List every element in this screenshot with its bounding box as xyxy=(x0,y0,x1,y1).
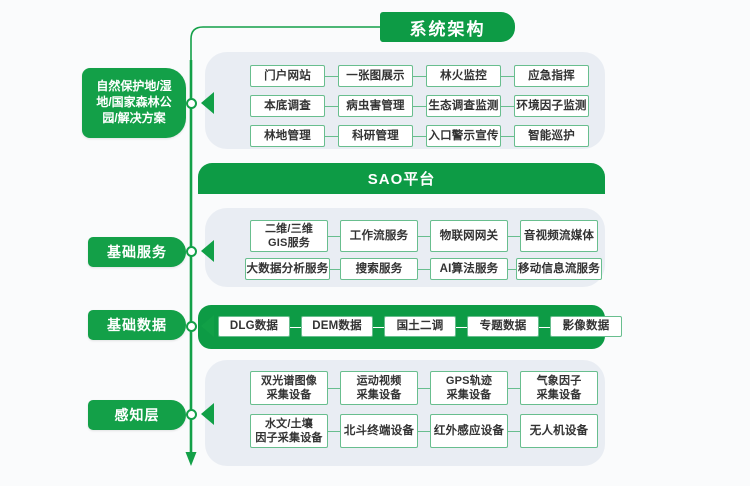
app-box-env-monitor[interactable]: 环境因子监测 xyxy=(514,95,589,117)
app-box-emergency[interactable]: 应急指挥 xyxy=(514,65,589,87)
layer-arrow-basic-data xyxy=(201,315,214,337)
app-box-onemap[interactable]: 一张图展示 xyxy=(338,65,413,87)
app-box-eco-survey[interactable]: 生态调查监测 xyxy=(426,95,501,117)
layer-label-applications-text: 自然保护地/湿 地/国家森林公 园/解决方案 xyxy=(96,79,171,126)
connector-app-r3-1 xyxy=(325,136,338,137)
service-box-ai[interactable]: AI算法服务 xyxy=(430,258,508,280)
app-box-baseline-survey[interactable]: 本底调查 xyxy=(250,95,325,117)
spine-node-basic-data xyxy=(186,321,197,332)
sensor-gps-line-1: GPS轨迹 xyxy=(446,375,492,387)
layer-label-line-3: 园/解决方案 xyxy=(102,111,165,125)
connector-data-3 xyxy=(456,327,467,328)
layer-label-line-1: 自然保护地/湿 xyxy=(96,79,171,93)
connector-svc-r1-3 xyxy=(508,236,520,237)
spine-node-perception xyxy=(186,409,197,420)
connector-app-r3-2 xyxy=(413,136,426,137)
connector-data-2 xyxy=(373,327,384,328)
service-gis-line-1: 二维/三维 xyxy=(265,223,313,235)
sensor-box-motion-video-text: 运动视频 采集设备 xyxy=(357,374,402,402)
platform-bar-sao[interactable]: SAO平台 xyxy=(198,163,605,194)
data-box-dlg[interactable]: DLG数据 xyxy=(218,316,290,337)
sensor-video-line-1: 运动视频 xyxy=(357,375,402,387)
connector-svc-r2-2 xyxy=(418,269,430,270)
app-box-entrance-warning[interactable]: 入口警示宣传 xyxy=(426,125,501,147)
sensor-dual-line-1: 双光谱图像 xyxy=(261,375,317,387)
connector-app-r1-2 xyxy=(413,76,426,77)
system-architecture-diagram: 系统架构 自然保护地/湿 地/国家森林公 园/解决方案 门户网站 一张图展示 林… xyxy=(0,0,750,486)
data-box-thematic[interactable]: 专题数据 xyxy=(467,316,539,337)
connector-svc-r1-2 xyxy=(418,236,430,237)
service-box-gis-text: 二维/三维 GIS服务 xyxy=(265,222,313,250)
layer-arrow-perception xyxy=(201,403,214,425)
sensor-box-motion-video[interactable]: 运动视频 采集设备 xyxy=(340,371,418,405)
service-box-av-streaming[interactable]: 音视频流媒体 xyxy=(520,220,598,252)
sensor-weather-line-1: 气象因子 xyxy=(537,375,582,387)
sensor-box-hydro-soil[interactable]: 水文/土壤 因子采集设备 xyxy=(250,414,328,448)
layer-label-basic-services[interactable]: 基础服务 xyxy=(88,237,186,267)
layer-arrow-basic-services xyxy=(201,240,214,262)
app-box-smart-patrol[interactable]: 智能巡护 xyxy=(514,125,589,147)
app-box-portal[interactable]: 门户网站 xyxy=(250,65,325,87)
service-box-gis[interactable]: 二维/三维 GIS服务 xyxy=(250,220,328,252)
sensor-box-gps-track[interactable]: GPS轨迹 采集设备 xyxy=(430,371,508,405)
app-box-research-mgmt[interactable]: 科研管理 xyxy=(338,125,413,147)
spine-node-basic-services xyxy=(186,246,197,257)
app-box-fire-monitor[interactable]: 林火监控 xyxy=(426,65,501,87)
layer-label-basic-data[interactable]: 基础数据 xyxy=(88,310,186,340)
connector-sense-r1-2 xyxy=(418,388,430,389)
service-box-iot-gateway[interactable]: 物联网网关 xyxy=(430,220,508,252)
sensor-box-infrared[interactable]: 红外感应设备 xyxy=(430,414,508,448)
data-box-imagery[interactable]: 影像数据 xyxy=(550,316,622,337)
sensor-box-hydro-soil-text: 水文/土壤 因子采集设备 xyxy=(255,417,322,445)
data-box-land-survey[interactable]: 国土二调 xyxy=(384,316,456,337)
sensor-weather-line-2: 采集设备 xyxy=(537,389,582,401)
app-box-pest-mgmt[interactable]: 病虫害管理 xyxy=(338,95,413,117)
connector-svc-r2-1 xyxy=(330,269,340,270)
connector-app-r3-3 xyxy=(501,136,514,137)
sensor-box-dual-spectrum[interactable]: 双光谱图像 采集设备 xyxy=(250,371,328,405)
sensor-box-weather-text: 气象因子 采集设备 xyxy=(537,374,582,402)
diagram-title: 系统架构 xyxy=(380,12,515,42)
service-box-bigdata[interactable]: 大数据分析服务 xyxy=(245,258,330,280)
data-box-dem[interactable]: DEM数据 xyxy=(301,316,373,337)
layer-arrow-applications xyxy=(201,92,214,114)
sensor-video-line-2: 采集设备 xyxy=(357,389,402,401)
sensor-hydro-line-1: 水文/土壤 xyxy=(265,418,313,430)
connector-app-r1-1 xyxy=(325,76,338,77)
service-box-mobile-feed[interactable]: 移动信息流服务 xyxy=(516,258,602,280)
connector-sense-r2-1 xyxy=(328,431,340,432)
service-box-search[interactable]: 搜索服务 xyxy=(340,258,418,280)
sensor-gps-line-2: 采集设备 xyxy=(447,389,492,401)
connector-app-r2-2 xyxy=(413,106,426,107)
connector-svc-r1-1 xyxy=(328,236,340,237)
connector-svc-r2-3 xyxy=(508,269,516,270)
connector-sense-r1-3 xyxy=(508,388,520,389)
sensor-hydro-line-2: 因子采集设备 xyxy=(255,432,322,444)
service-box-workflow[interactable]: 工作流服务 xyxy=(340,220,418,252)
connector-app-r1-3 xyxy=(501,76,514,77)
app-box-forestland-mgmt[interactable]: 林地管理 xyxy=(250,125,325,147)
connector-sense-r1-1 xyxy=(328,388,340,389)
sensor-box-uav[interactable]: 无人机设备 xyxy=(520,414,598,448)
service-gis-line-2: GIS服务 xyxy=(268,237,310,249)
connector-data-1 xyxy=(290,327,301,328)
sensor-box-weather[interactable]: 气象因子 采集设备 xyxy=(520,371,598,405)
connector-sense-r2-3 xyxy=(508,431,520,432)
layer-label-applications[interactable]: 自然保护地/湿 地/国家森林公 园/解决方案 xyxy=(82,68,186,138)
sensor-box-gps-track-text: GPS轨迹 采集设备 xyxy=(446,374,492,402)
spine-node-applications xyxy=(186,98,197,109)
connector-data-4 xyxy=(539,327,550,328)
connector-sense-r2-2 xyxy=(418,431,430,432)
connector-app-r2-1 xyxy=(325,106,338,107)
layer-label-line-2: 地/国家森林公 xyxy=(96,95,171,109)
layer-label-perception[interactable]: 感知层 xyxy=(88,400,186,430)
sensor-box-beidou[interactable]: 北斗终端设备 xyxy=(340,414,418,448)
sensor-box-dual-spectrum-text: 双光谱图像 采集设备 xyxy=(261,374,317,402)
sensor-dual-line-2: 采集设备 xyxy=(267,389,312,401)
connector-app-r2-3 xyxy=(501,106,514,107)
